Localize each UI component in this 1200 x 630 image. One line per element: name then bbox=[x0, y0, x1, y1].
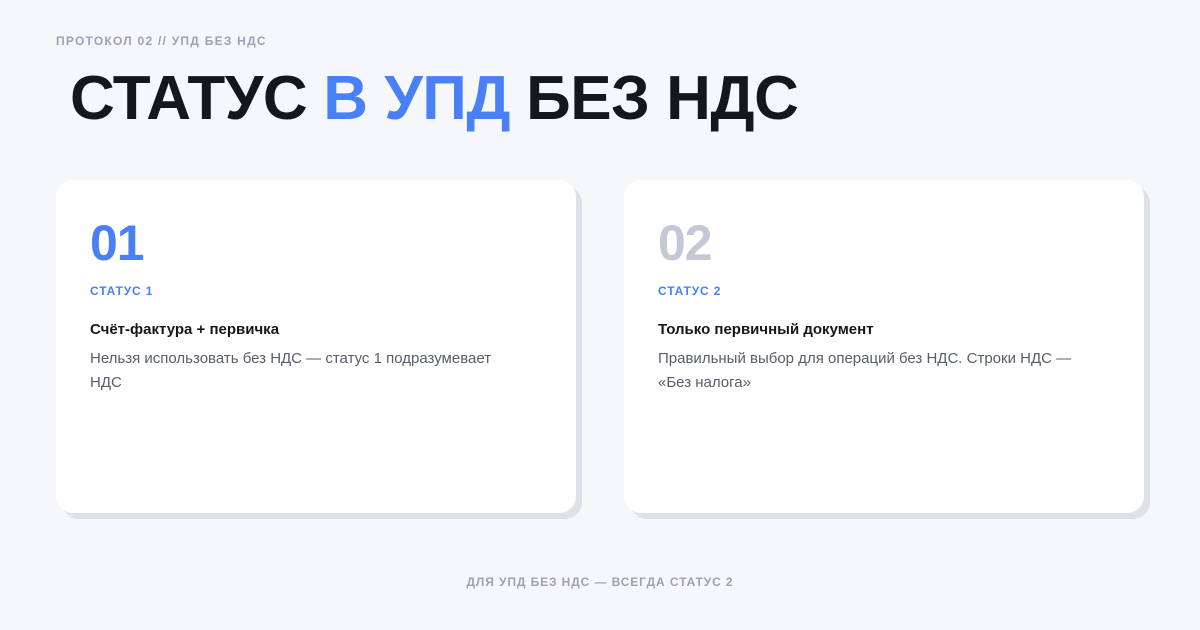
status-card-2-number: 02 bbox=[658, 218, 1110, 268]
status-card-2[interactable]: 02 СТАТУС 2 Только первичный документ Пр… bbox=[624, 180, 1144, 513]
status-card-2-body: Правильный выбор для операций без НДС. С… bbox=[658, 347, 1092, 396]
status-card-list: 01 СТАТУС 1 Счёт-фактура + первичка Нель… bbox=[0, 180, 1200, 513]
title-segment-plain-1: СТАТУС bbox=[70, 64, 307, 133]
eyebrow-label: ПРОТОКОЛ 02 // УПД БЕЗ НДС bbox=[56, 34, 1144, 48]
title-segment-accent: В УПД bbox=[323, 64, 510, 133]
status-card-1-heading: Счёт-фактура + первичка bbox=[90, 320, 542, 340]
status-card-1-body: Нельзя использовать без НДС — статус 1 п… bbox=[90, 347, 524, 396]
status-card-2-label: СТАТУС 2 bbox=[658, 284, 1110, 298]
status-card-2-heading: Только первичный документ bbox=[658, 320, 1110, 340]
slide-root: ПРОТОКОЛ 02 // УПД БЕЗ НДС СТАТУСВ УПДБЕ… bbox=[0, 0, 1200, 630]
slide-header: ПРОТОКОЛ 02 // УПД БЕЗ НДС СТАТУСВ УПДБЕ… bbox=[0, 0, 1200, 132]
footer-note: ДЛЯ УПД БЕЗ НДС — ВСЕГДА СТАТУС 2 bbox=[0, 575, 1200, 589]
title-segment-plain-2: БЕЗ НДС bbox=[526, 64, 798, 133]
page-title: СТАТУСВ УПДБЕЗ НДС bbox=[70, 66, 1144, 132]
status-card-1-label: СТАТУС 1 bbox=[90, 284, 542, 298]
slide-footer: ДЛЯ УПД БЕЗ НДС — ВСЕГДА СТАТУС 2 bbox=[0, 575, 1200, 630]
status-card-1[interactable]: 01 СТАТУС 1 Счёт-фактура + первичка Нель… bbox=[56, 180, 576, 513]
status-card-1-number: 01 bbox=[90, 218, 542, 268]
